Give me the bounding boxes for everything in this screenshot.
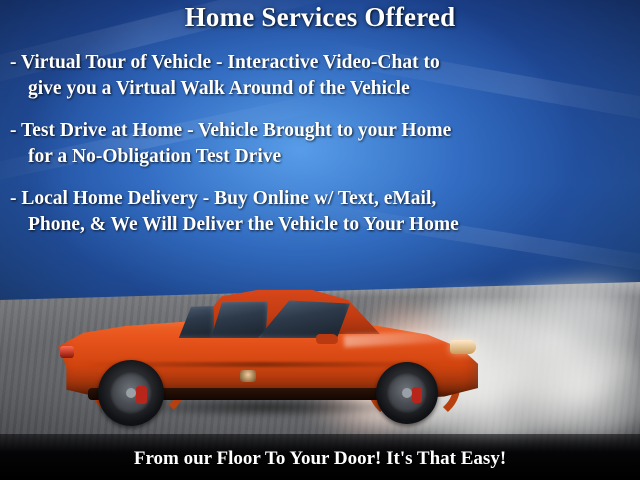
bullet-line: - Test Drive at Home - Vehicle Brought t… xyxy=(10,118,630,144)
smoke-puff xyxy=(544,274,640,348)
smoke-puff xyxy=(470,284,640,404)
rear-wheel xyxy=(98,360,164,426)
side-mirror xyxy=(316,334,338,344)
taillight xyxy=(60,346,74,358)
promo-banner-image: Home Services Offered - Virtual Tour of … xyxy=(0,0,640,480)
bullet-item: - Test Drive at Home - Vehicle Brought t… xyxy=(10,118,630,170)
bullet-line: - Virtual Tour of Vehicle - Interactive … xyxy=(10,50,630,76)
bullet-line: - Local Home Delivery - Buy Online w/ Te… xyxy=(10,186,630,212)
headline-text: Home Services Offered xyxy=(0,2,640,33)
smoke-puff xyxy=(510,340,640,440)
bullet-item: - Virtual Tour of Vehicle - Interactive … xyxy=(10,50,630,102)
front-brake-caliper xyxy=(412,387,422,403)
bullet-item: - Local Home Delivery - Buy Online w/ Te… xyxy=(10,186,630,238)
rear-brake-caliper xyxy=(136,386,147,403)
headlight xyxy=(450,340,476,354)
front-hub xyxy=(402,388,412,398)
bullet-line: give you a Virtual Walk Around of the Ve… xyxy=(10,76,630,102)
bullet-line: for a No-Obligation Test Drive xyxy=(10,144,630,170)
front-wheel xyxy=(376,362,438,424)
car-illustration xyxy=(58,288,478,428)
footer-tagline: From our Floor To Your Door! It's That E… xyxy=(0,448,640,470)
door-badge xyxy=(240,370,256,382)
bullet-list: - Virtual Tour of Vehicle - Interactive … xyxy=(10,50,630,254)
bullet-line: Phone, & We Will Deliver the Vehicle to … xyxy=(10,212,630,238)
